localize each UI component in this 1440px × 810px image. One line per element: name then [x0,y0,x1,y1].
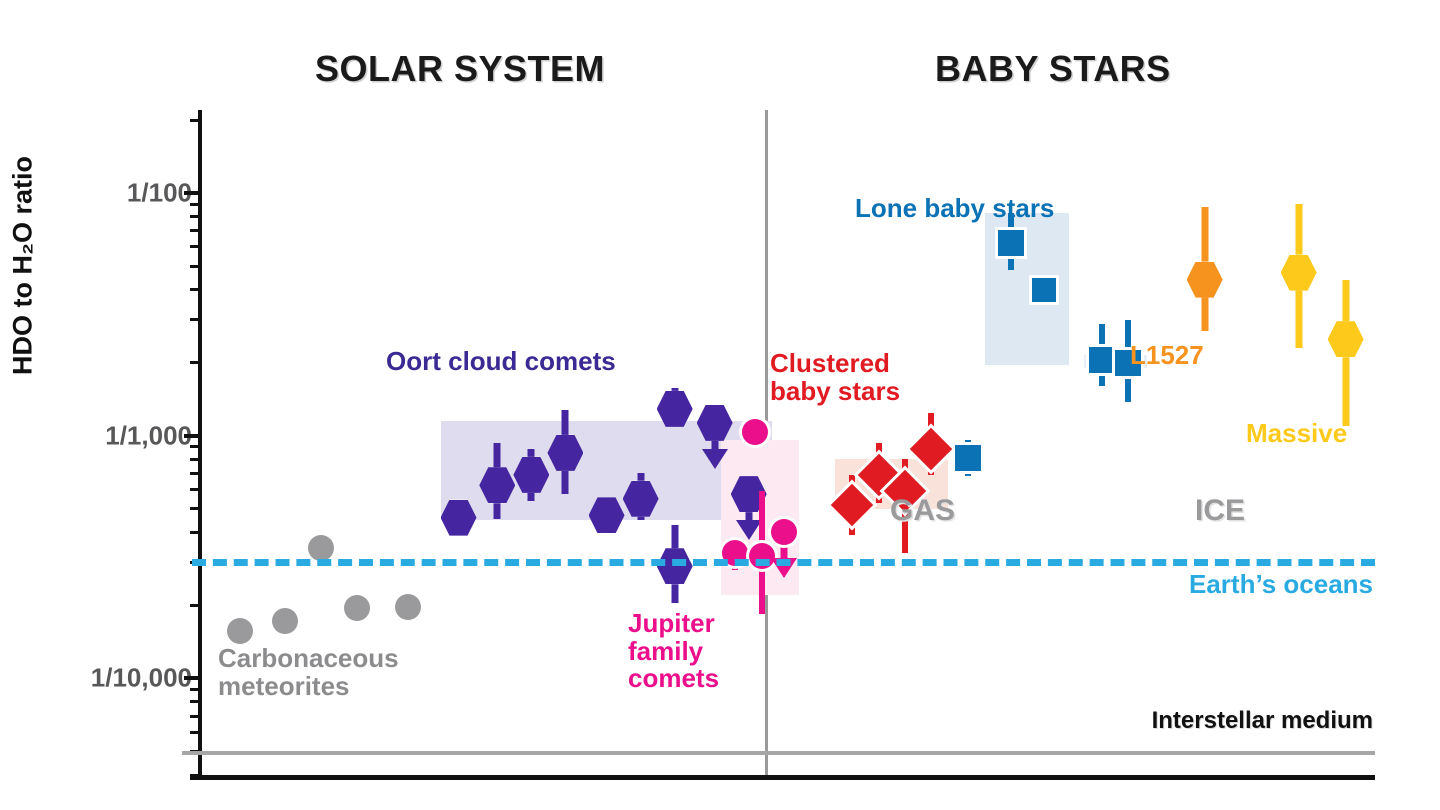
marker-hexagon [1187,262,1223,298]
label-line: baby stars [770,378,900,406]
panel-header-baby-stars: BABY STARS [935,48,1171,90]
y-tick-major-2 [184,676,200,680]
x-axis-line [190,775,1375,780]
y-tick-minor [190,445,200,448]
label-line: L1527 [1130,342,1204,370]
y-tick-minor [190,203,200,206]
y-tick-minor [190,715,200,718]
marker-square [1089,347,1115,373]
label-line: Carbonaceous [218,645,399,673]
label-line: Massive [1246,420,1347,448]
label-l1527: L1527 [1130,342,1204,370]
label-jupiter-family-comets: Jupiterfamilycomets [628,610,719,693]
y-tick-minor [190,488,200,491]
label-line: Clustered [770,350,900,378]
label-line: Oort cloud comets [386,348,616,376]
label-massive: Massive [1246,420,1347,448]
plot-area: Interstellar medium Earth’s oceans Carbo… [200,110,1375,775]
marker-circle [344,595,370,621]
y-tick-minor [190,119,200,122]
y-axis-line [198,110,202,775]
y-tick-minor [190,265,200,268]
chart-canvas: SOLAR SYSTEM BABY STARS HDO to H₂O ratio… [0,0,1440,810]
y-tick-major-0 [184,191,200,195]
y-tick-label-0: 1/100 [127,178,192,209]
y-tick-minor [190,507,200,510]
y-tick-minor [190,774,200,777]
label-ice: ICE [1195,495,1245,527]
interstellar-medium-label: Interstellar medium [1152,707,1373,735]
y-tick-label-2: 1/10,000 [91,663,192,694]
panel-header-solar-system: SOLAR SYSTEM [315,48,605,90]
marker-hexagon [1328,321,1364,357]
upper-limit-arrowhead [702,449,728,469]
earths-oceans-line [192,559,1375,566]
marker-circle [308,535,334,561]
marker-square [998,230,1024,256]
label-oort-cloud-comets: Oort cloud comets [386,348,616,376]
y-tick-minor [190,215,200,218]
marker-circle [395,594,421,620]
label-lone-baby-stars: Lone baby stars [855,195,1054,223]
marker-square [955,445,981,471]
y-tick-label-1: 1/1,000 [105,420,192,451]
marker-circle [771,519,797,545]
marker-circle [742,419,768,445]
label-line: family [628,638,719,666]
y-tick-minor [190,731,200,734]
marker-square [1032,278,1056,302]
interstellar-medium-line [182,751,1375,755]
y-tick-major-1 [184,434,200,438]
y-tick-minor [190,531,200,534]
y-tick-minor [190,604,200,607]
y-tick-minor [190,318,200,321]
marker-hexagon [1281,255,1317,291]
y-tick-minor [190,688,200,691]
y-tick-minor [190,288,200,291]
y-tick-minor [190,458,200,461]
label-clustered-baby-stars: Clusteredbaby stars [770,350,900,405]
label-line: Jupiter [628,610,719,638]
marker-circle [227,618,253,644]
y-tick-minor [190,229,200,232]
marker-circle [272,608,298,634]
label-gas: GAS [890,495,955,527]
y-tick-minor [190,361,200,364]
label-carbonaceous-meteorites: Carbonaceousmeteorites [218,645,399,700]
y-tick-minor [190,472,200,475]
label-line: Lone baby stars [855,195,1054,223]
y-axis-tick-labels: 1/1001/1,0001/10,000 [0,110,192,775]
y-tick-minor [190,700,200,703]
y-tick-minor [190,245,200,248]
label-line: comets [628,665,719,693]
earths-oceans-label: Earth’s oceans [1189,569,1373,600]
label-line: meteorites [218,673,399,701]
marker-hexagon [657,548,693,584]
